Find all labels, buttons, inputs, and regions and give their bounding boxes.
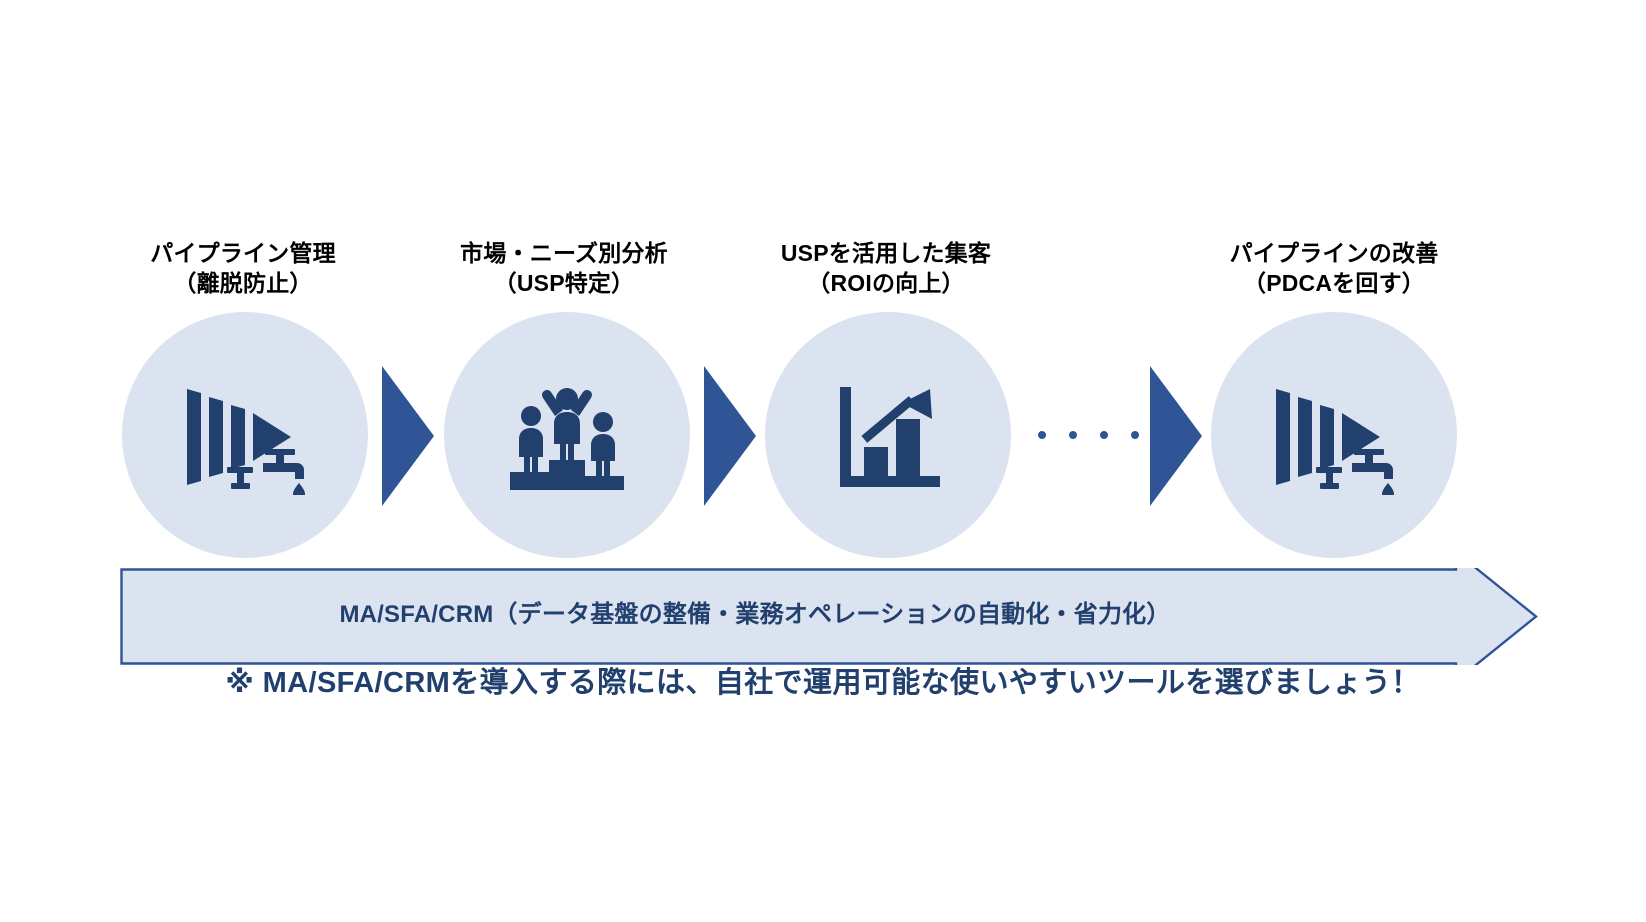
step-label-1-line1: パイプライン管理: [150, 240, 336, 266]
step-icon-3-wrap: [765, 312, 1011, 558]
step-circle-2[interactable]: [444, 312, 690, 558]
podium-winners-icon: [502, 380, 632, 490]
chevron-right-icon: [704, 366, 756, 506]
step-circle-4[interactable]: [1211, 312, 1457, 558]
funnel-faucet-icon: [1270, 375, 1398, 495]
bar-chart-growth-icon: [836, 383, 940, 487]
connector-chevron-3: [1150, 366, 1202, 506]
step-circle-1[interactable]: [122, 312, 368, 558]
step-label-1: パイプライン管理 （離脱防止）: [128, 238, 358, 299]
connector-chevron-1: [382, 366, 434, 506]
dot: [1069, 431, 1077, 439]
chevron-right-icon: [382, 366, 434, 506]
footnote-text: ※ MA/SFA/CRMを導入する際には、自社で運用可能な使いやすいツールを選び…: [0, 659, 1646, 701]
step-label-3: USPを活用した集客 （ROIの向上）: [771, 238, 1001, 299]
step-label-2-line2: （USP特定）: [449, 268, 679, 298]
connector-chevron-2: [704, 366, 756, 506]
step-label-2-line1: 市場・ニーズ別分析: [460, 240, 668, 266]
step-icon-4-wrap: [1211, 312, 1457, 558]
step-icon-2-wrap: [444, 312, 690, 558]
dot: [1100, 431, 1108, 439]
step-label-2: 市場・ニーズ別分析 （USP特定）: [449, 238, 679, 299]
chevron-right-icon: [1150, 366, 1202, 506]
step-icon-1-wrap: [122, 312, 368, 558]
step-label-4-line2: （PDCAを回す）: [1219, 268, 1449, 298]
step-label-3-line1: USPを活用した集客: [781, 240, 991, 266]
dot: [1131, 431, 1139, 439]
step-label-4-line1: パイプラインの改善: [1230, 240, 1439, 266]
step-label-3-line2: （ROIの向上）: [771, 268, 1001, 298]
step-circle-3[interactable]: [765, 312, 1011, 558]
step-label-1-line2: （離脱防止）: [128, 268, 358, 298]
dot: [1038, 431, 1046, 439]
step-label-4: パイプラインの改善 （PDCAを回す）: [1219, 238, 1449, 299]
banner-label: MA/SFA/CRM（データ基盤の整備・業務オペレーションの自動化・省力化）: [120, 594, 1390, 629]
funnel-faucet-icon: [181, 375, 309, 495]
banner-arrow: MA/SFA/CRM（データ基盤の整備・業務オペレーションの自動化・省力化）: [120, 568, 1538, 665]
diagram-canvas: パイプライン管理 （離脱防止） 市場・ニーズ別分析 （USP特定） USPを活用…: [0, 0, 1646, 922]
